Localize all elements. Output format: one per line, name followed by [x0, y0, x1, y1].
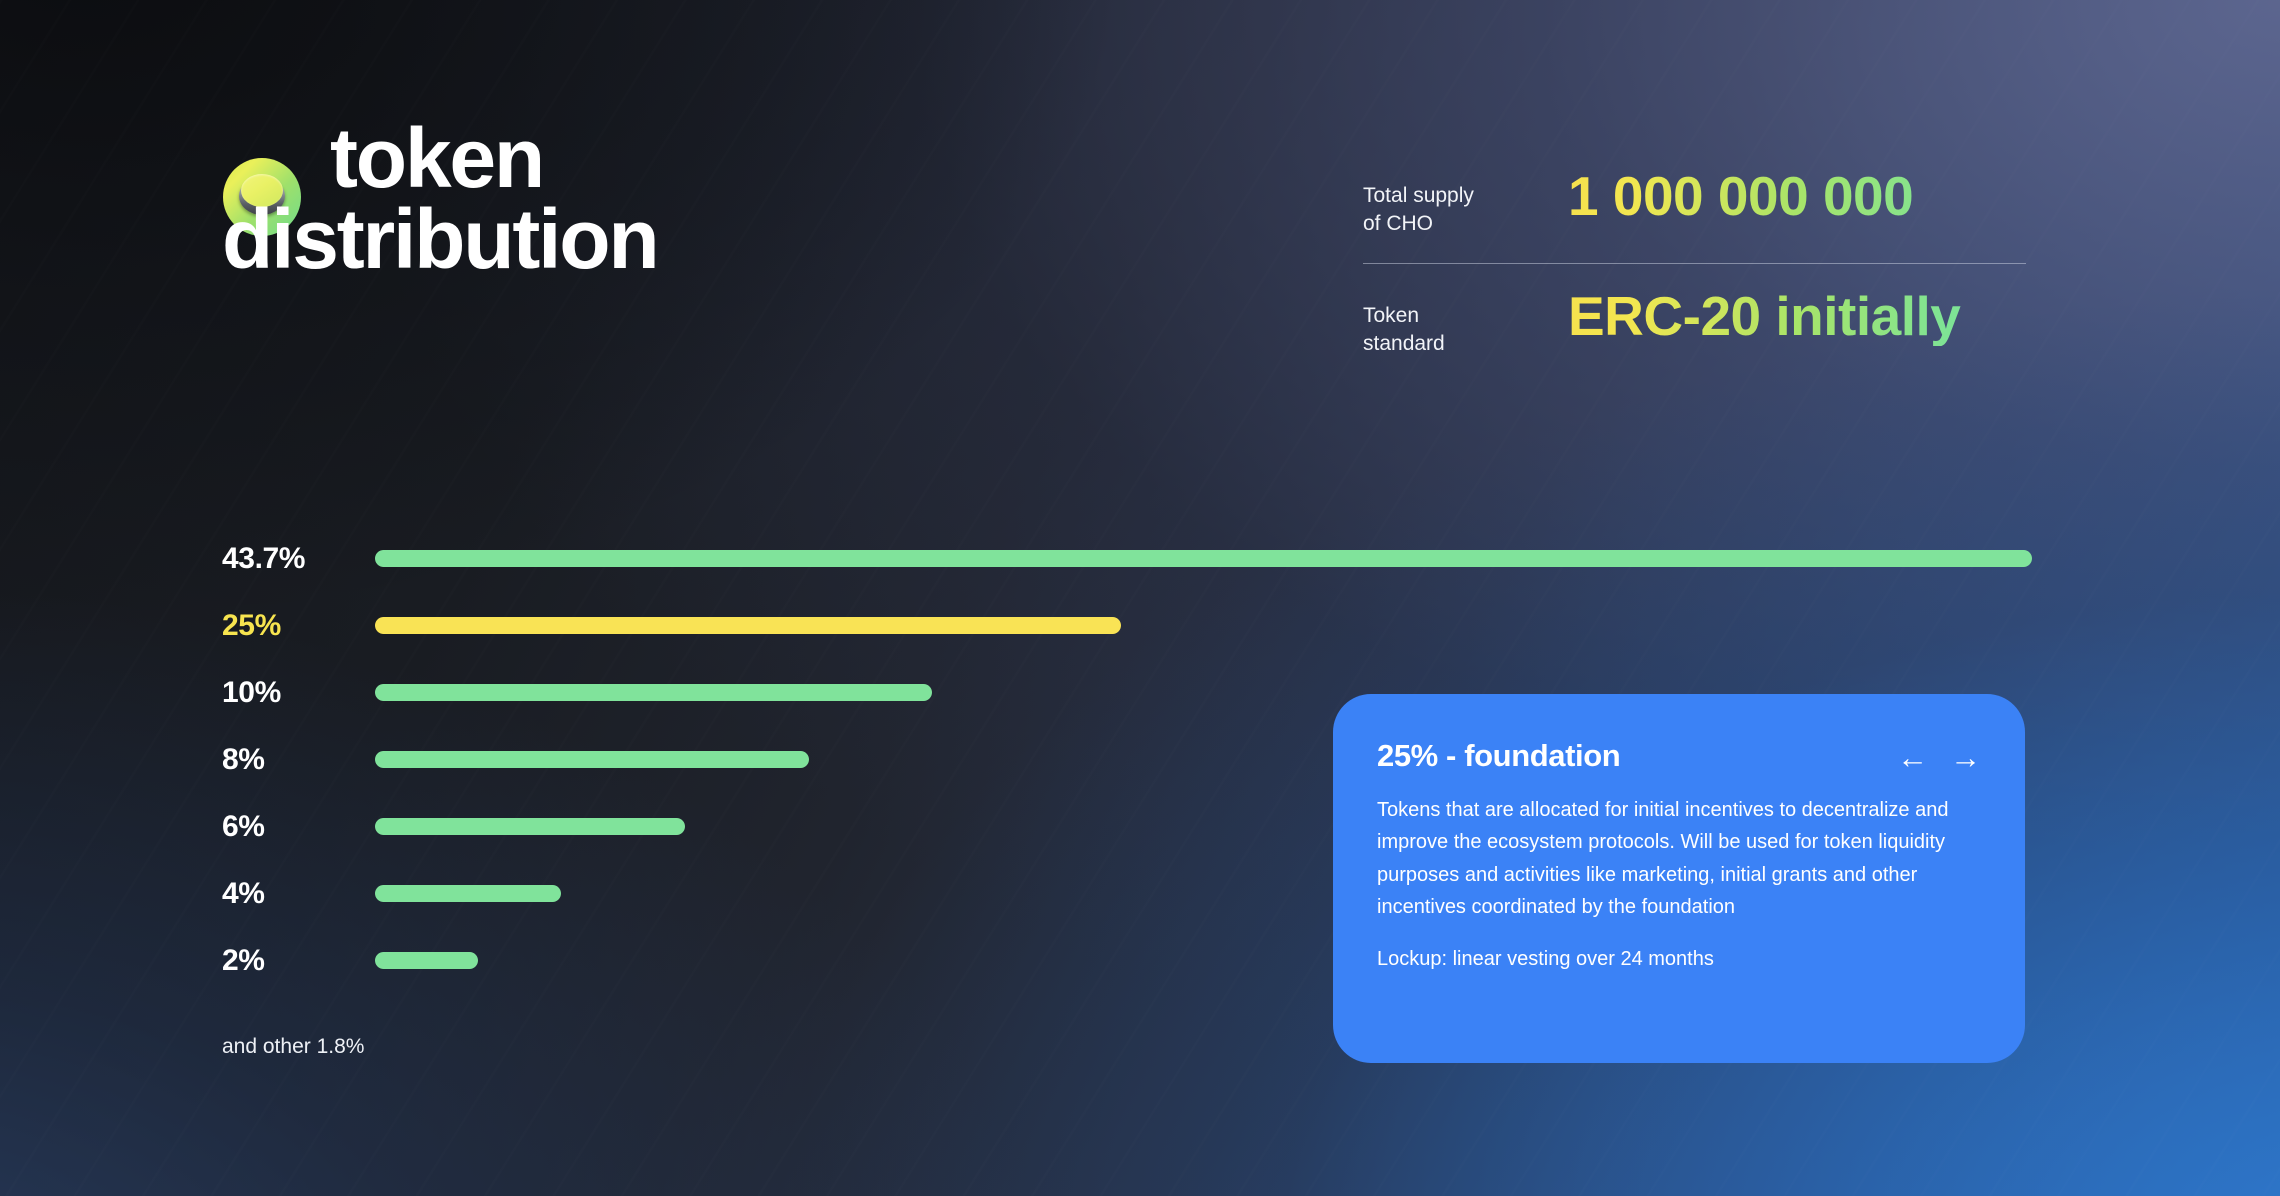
bar-label: 6% [222, 810, 375, 844]
bar-label: 4% [222, 877, 375, 911]
arrow-left-icon[interactable]: ← [1897, 742, 1928, 773]
stat-value-token-standard: ERC-20 initially [1568, 288, 2026, 346]
bar-label: 25% [222, 609, 375, 643]
page-title-line1: token [222, 118, 1122, 199]
allocation-detail-card: 25% - foundation ← → Tokens that are all… [1333, 694, 2025, 1063]
bar-fill [375, 550, 2032, 567]
card-header: 25% - foundation ← → [1377, 738, 1981, 774]
bar-fill [375, 885, 561, 902]
stat-row-total-supply: Total supply of CHO 1 000 000 000 [1363, 168, 2026, 237]
stat-label-token-standard: Token standard [1363, 288, 1568, 357]
bar-track [375, 617, 2032, 634]
card-lockup-note: Lockup: linear vesting over 24 months [1377, 944, 1981, 974]
stat-label-total-supply: Total supply of CHO [1363, 168, 1568, 237]
bar-fill [375, 617, 1121, 634]
slide-stage: token distribution Total supply of CHO 1… [0, 0, 2280, 1196]
stats-divider [1363, 263, 2026, 264]
bar-label: 2% [222, 944, 375, 978]
stat-row-token-standard: Token standard ERC-20 initially [1363, 288, 2026, 357]
bar-fill [375, 751, 809, 768]
card-description: Tokens that are allocated for initial in… [1377, 794, 1967, 924]
bar-fill [375, 818, 685, 835]
bar-label: 10% [222, 676, 375, 710]
stat-value-total-supply: 1 000 000 000 [1568, 168, 2026, 226]
token-stats: Total supply of CHO 1 000 000 000 Token … [1363, 168, 2026, 358]
page-title: token distribution [222, 118, 1122, 281]
card-navigation: ← → [1897, 738, 1981, 773]
chart-footnote: and other 1.8% [222, 1035, 364, 1059]
bar-row[interactable]: 25% [222, 592, 2032, 659]
page-title-line2: distribution [222, 199, 1122, 280]
bar-fill [375, 952, 478, 969]
arrow-right-icon[interactable]: → [1950, 742, 1981, 773]
bar-row[interactable]: 43.7% [222, 525, 2032, 592]
bar-track [375, 550, 2032, 567]
bar-label: 8% [222, 743, 375, 777]
card-title: 25% - foundation [1377, 738, 1620, 774]
bar-label: 43.7% [222, 542, 375, 576]
bar-fill [375, 684, 932, 701]
